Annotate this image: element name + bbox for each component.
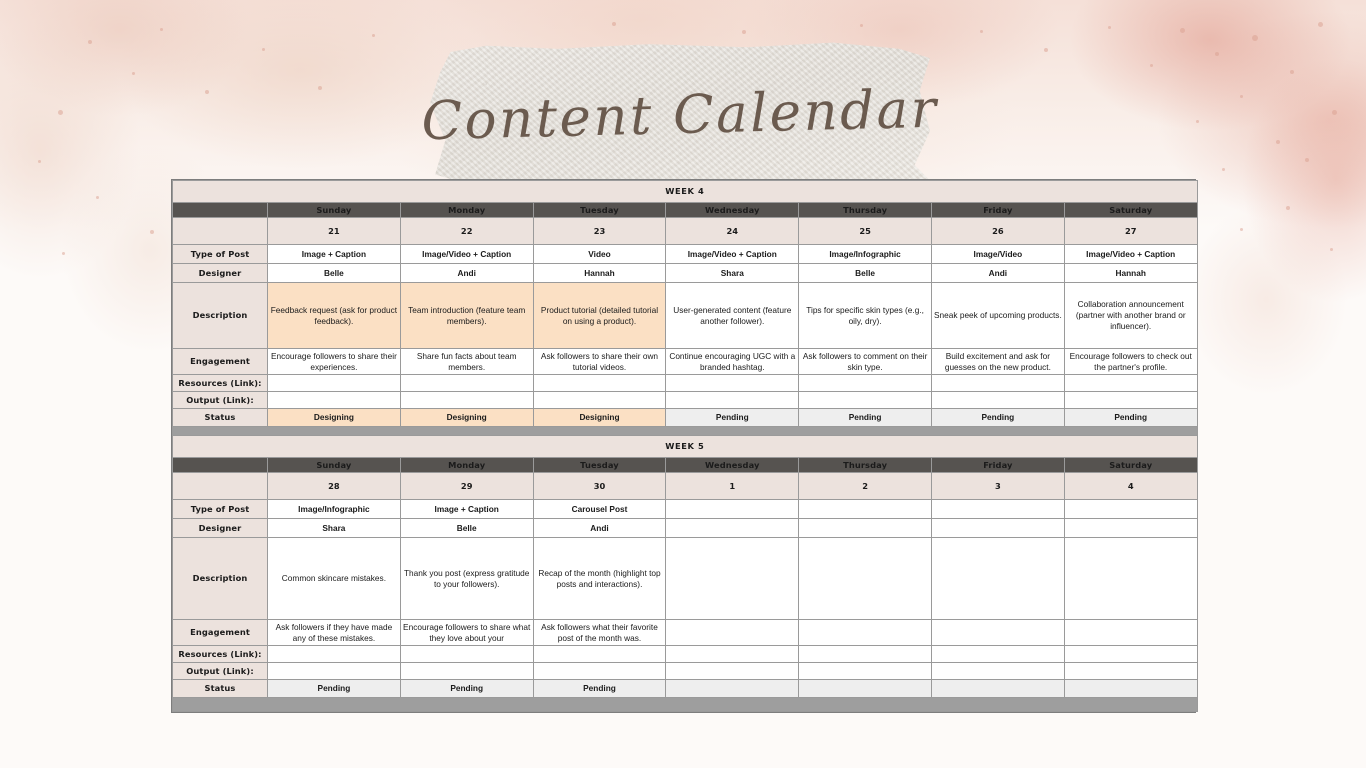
day-header-friday: Friday (931, 203, 1064, 218)
engagement-row: EngagementEncourage followers to share t… (173, 349, 1198, 375)
output-cell[interactable] (799, 392, 932, 409)
row-label-engagement: Engagement (173, 349, 268, 375)
watercolor-speck (860, 24, 863, 27)
type-of-post-cell[interactable] (1064, 500, 1197, 519)
type-of-post-cell[interactable]: Image + Caption (400, 500, 533, 519)
row-label-type-of-post: Type of Post (173, 245, 268, 264)
engagement-cell[interactable]: Encourage followers to check out the par… (1064, 349, 1197, 375)
date-cell: 24 (666, 218, 799, 245)
day-header-tuesday: Tuesday (533, 203, 666, 218)
designer-cell[interactable] (666, 519, 799, 538)
watercolor-speck (58, 110, 63, 115)
output-cell[interactable] (1064, 392, 1197, 409)
engagement-cell[interactable] (1064, 620, 1197, 646)
status-cell[interactable]: Pending (268, 680, 401, 698)
week-banner-row: WEEK 5 (173, 436, 1198, 458)
date-cell: 22 (400, 218, 533, 245)
designer-row: DesignerBelleAndiHannahSharaBelleAndiHan… (173, 264, 1198, 283)
description-cell[interactable]: Collaboration announcement (partner with… (1064, 283, 1197, 349)
output-row: Output (Link): (173, 392, 1198, 409)
status-cell[interactable]: Pending (1064, 409, 1197, 427)
status-cell[interactable]: Pending (931, 409, 1064, 427)
resources-cell[interactable] (931, 646, 1064, 663)
resources-cell[interactable] (533, 646, 666, 663)
watercolor-speck (1240, 95, 1243, 98)
output-cell[interactable] (268, 663, 401, 680)
output-cell[interactable] (268, 392, 401, 409)
day-header-sunday: Sunday (268, 458, 401, 473)
description-cell[interactable] (931, 538, 1064, 620)
engagement-cell[interactable]: Share fun facts about team members. (400, 349, 533, 375)
row-label-engagement: Engagement (173, 620, 268, 646)
watercolor-speck (1180, 28, 1185, 33)
watercolor-speck (742, 30, 746, 34)
resources-cell[interactable] (931, 375, 1064, 392)
designer-cell[interactable]: Andi (931, 264, 1064, 283)
type-of-post-row: Type of PostImage/InfographicImage + Cap… (173, 500, 1198, 519)
status-cell[interactable]: Pending (799, 409, 932, 427)
engagement-cell[interactable]: Encourage followers to share their exper… (268, 349, 401, 375)
watercolor-speck (150, 230, 154, 234)
engagement-cell[interactable] (666, 620, 799, 646)
row-label-description: Description (173, 538, 268, 620)
day-header-monday: Monday (400, 203, 533, 218)
resources-cell[interactable] (400, 375, 533, 392)
type-of-post-cell[interactable]: Carousel Post (533, 500, 666, 519)
date-cell: 21 (268, 218, 401, 245)
status-cell[interactable]: Designing (400, 409, 533, 427)
output-cell[interactable] (931, 392, 1064, 409)
output-cell[interactable] (931, 663, 1064, 680)
status-row: StatusPendingPendingPending (173, 680, 1198, 698)
output-cell[interactable] (533, 392, 666, 409)
engagement-cell[interactable]: Encourage followers to share what they l… (400, 620, 533, 646)
type-of-post-cell[interactable]: Image/Video + Caption (400, 245, 533, 264)
dow-corner-cell (173, 203, 268, 218)
date-cell: 4 (1064, 473, 1197, 500)
engagement-cell[interactable] (931, 620, 1064, 646)
watercolor-speck (1305, 158, 1309, 162)
designer-cell[interactable]: Belle (799, 264, 932, 283)
footer-strip-row (173, 698, 1198, 712)
watercolor-speck (1330, 248, 1333, 251)
status-row: StatusDesigningDesigningDesigningPending… (173, 409, 1198, 427)
type-of-post-cell[interactable]: Image + Caption (268, 245, 401, 264)
week-banner-row: WEEK 4 (173, 181, 1198, 203)
description-cell[interactable]: Product tutorial (detailed tutorial on u… (533, 283, 666, 349)
watercolor-speck (1286, 206, 1290, 210)
resources-cell[interactable] (1064, 646, 1197, 663)
resources-cell[interactable] (268, 375, 401, 392)
watercolor-speck (1196, 120, 1199, 123)
type-of-post-cell[interactable]: Image/Video + Caption (666, 245, 799, 264)
date-cell: 1 (666, 473, 799, 500)
designer-cell[interactable] (1064, 519, 1197, 538)
resources-cell[interactable] (799, 375, 932, 392)
type-of-post-cell[interactable]: Image/Infographic (799, 245, 932, 264)
row-label-resources: Resources (Link): (173, 375, 268, 392)
row-label-output: Output (Link): (173, 663, 268, 680)
status-cell[interactable]: Pending (400, 680, 533, 698)
watercolor-speck (1290, 70, 1294, 74)
watercolor-speck (96, 196, 99, 199)
day-header-monday: Monday (400, 458, 533, 473)
engagement-row: EngagementAsk followers if they have mad… (173, 620, 1198, 646)
status-cell[interactable] (666, 680, 799, 698)
week-spacer (173, 427, 1198, 436)
day-header-tuesday: Tuesday (533, 458, 666, 473)
status-cell[interactable]: Designing (268, 409, 401, 427)
day-header-thursday: Thursday (799, 458, 932, 473)
row-label-designer: Designer (173, 264, 268, 283)
watercolor-speck (1044, 48, 1048, 52)
footer-strip (173, 698, 1198, 712)
resources-cell[interactable] (400, 646, 533, 663)
watercolor-speck (318, 86, 322, 90)
type-of-post-cell[interactable]: Image/Video + Caption (1064, 245, 1197, 264)
date-cell: 3 (931, 473, 1064, 500)
description-cell[interactable]: Common skincare mistakes. (268, 538, 401, 620)
engagement-cell[interactable]: Ask followers to share their own tutoria… (533, 349, 666, 375)
status-cell[interactable]: Designing (533, 409, 666, 427)
engagement-cell[interactable]: Continue encouraging UGC with a branded … (666, 349, 799, 375)
watercolor-speck (132, 72, 135, 75)
description-cell[interactable]: Tips for specific skin types (e.g., oily… (799, 283, 932, 349)
engagement-cell[interactable]: Ask followers if they have made any of t… (268, 620, 401, 646)
designer-cell[interactable] (931, 519, 1064, 538)
designer-cell[interactable]: Andi (533, 519, 666, 538)
watercolor-speck (1276, 140, 1280, 144)
resources-cell[interactable] (666, 646, 799, 663)
resources-cell[interactable] (1064, 375, 1197, 392)
designer-cell[interactable]: Shara (268, 519, 401, 538)
watercolor-speck (62, 252, 65, 255)
day-header-sunday: Sunday (268, 203, 401, 218)
day-header-friday: Friday (931, 458, 1064, 473)
watercolor-speck (1222, 168, 1225, 171)
output-cell[interactable] (799, 663, 932, 680)
resources-row: Resources (Link): (173, 646, 1198, 663)
description-cell[interactable]: Thank you post (express gratitude to you… (400, 538, 533, 620)
watercolor-speck (372, 34, 375, 37)
date-cell: 27 (1064, 218, 1197, 245)
resources-cell[interactable] (799, 646, 932, 663)
date-corner-cell (173, 473, 268, 500)
status-cell[interactable]: Pending (533, 680, 666, 698)
designer-cell[interactable]: Shara (666, 264, 799, 283)
description-cell[interactable]: Team introduction (feature team members)… (400, 283, 533, 349)
description-cell[interactable]: Recap of the month (highlight top posts … (533, 538, 666, 620)
watercolor-speck (205, 90, 209, 94)
designer-cell[interactable]: Andi (400, 264, 533, 283)
row-label-description: Description (173, 283, 268, 349)
designer-cell[interactable]: Belle (400, 519, 533, 538)
description-cell[interactable] (666, 538, 799, 620)
description-cell[interactable]: Feedback request (ask for product feedba… (268, 283, 401, 349)
engagement-cell[interactable]: Ask followers what their favorite post o… (533, 620, 666, 646)
day-header-saturday: Saturday (1064, 458, 1197, 473)
date-corner-cell (173, 218, 268, 245)
designer-cell[interactable]: Hannah (533, 264, 666, 283)
day-header-wednesday: Wednesday (666, 458, 799, 473)
page-title: Content Calendar (423, 32, 937, 199)
output-cell[interactable] (533, 663, 666, 680)
type-of-post-cell[interactable] (799, 500, 932, 519)
watercolor-speck (1150, 64, 1153, 67)
row-label-resources: Resources (Link): (173, 646, 268, 663)
row-label-status: Status (173, 680, 268, 698)
description-row: DescriptionCommon skincare mistakes.Than… (173, 538, 1198, 620)
watercolor-speck (1318, 22, 1323, 27)
date-cell: 25 (799, 218, 932, 245)
watercolor-speck (38, 160, 41, 163)
status-cell[interactable]: Pending (666, 409, 799, 427)
watercolor-speck (980, 30, 983, 33)
designer-cell[interactable] (799, 519, 932, 538)
watercolor-speck (1108, 26, 1111, 29)
description-row: DescriptionFeedback request (ask for pro… (173, 283, 1198, 349)
watercolor-speck (1332, 110, 1337, 115)
output-cell[interactable] (666, 663, 799, 680)
week-spacer-row (173, 427, 1198, 436)
type-of-post-cell[interactable] (666, 500, 799, 519)
output-cell[interactable] (400, 663, 533, 680)
type-of-post-cell[interactable] (931, 500, 1064, 519)
description-cell[interactable]: Sneak peek of upcoming products. (931, 283, 1064, 349)
date-cell: 26 (931, 218, 1064, 245)
watercolor-speck (262, 48, 265, 51)
date-cell: 28 (268, 473, 401, 500)
day-header-saturday: Saturday (1064, 203, 1197, 218)
date-cell: 30 (533, 473, 666, 500)
dow-corner-cell (173, 458, 268, 473)
designer-cell[interactable]: Hannah (1064, 264, 1197, 283)
type-of-post-row: Type of PostImage + CaptionImage/Video +… (173, 245, 1198, 264)
date-cell: 2 (799, 473, 932, 500)
day-header-row: SundayMondayTuesdayWednesdayThursdayFrid… (173, 203, 1198, 218)
watercolor-speck (612, 22, 616, 26)
date-row: 2829301234 (173, 473, 1198, 500)
description-cell[interactable]: User-generated content (feature another … (666, 283, 799, 349)
description-cell[interactable] (1064, 538, 1197, 620)
week-banner-label: WEEK 4 (173, 181, 1198, 203)
resources-cell[interactable] (666, 375, 799, 392)
date-row: 21222324252627 (173, 218, 1198, 245)
type-of-post-cell[interactable]: Image/Infographic (268, 500, 401, 519)
resources-cell[interactable] (268, 646, 401, 663)
watercolor-speck (1252, 35, 1258, 41)
day-header-wednesday: Wednesday (666, 203, 799, 218)
status-cell[interactable] (931, 680, 1064, 698)
calendar-sheet: WEEK 4SundayMondayTuesdayWednesdayThursd… (171, 179, 1196, 713)
output-cell[interactable] (666, 392, 799, 409)
engagement-cell[interactable] (799, 620, 932, 646)
status-cell[interactable] (799, 680, 932, 698)
row-label-status: Status (173, 409, 268, 427)
output-row: Output (Link): (173, 663, 1198, 680)
watercolor-speck (1240, 228, 1243, 231)
designer-cell[interactable]: Belle (268, 264, 401, 283)
description-cell[interactable] (799, 538, 932, 620)
row-label-type-of-post: Type of Post (173, 500, 268, 519)
row-label-designer: Designer (173, 519, 268, 538)
day-header-thursday: Thursday (799, 203, 932, 218)
resources-cell[interactable] (533, 375, 666, 392)
watercolor-speck (88, 40, 92, 44)
status-cell[interactable] (1064, 680, 1197, 698)
type-of-post-cell[interactable]: Image/Video (931, 245, 1064, 264)
designer-row: DesignerSharaBelleAndi (173, 519, 1198, 538)
day-header-row: SundayMondayTuesdayWednesdayThursdayFrid… (173, 458, 1198, 473)
engagement-cell[interactable]: Build excitement and ask for guesses on … (931, 349, 1064, 375)
watercolor-speck (1215, 52, 1219, 56)
engagement-cell[interactable]: Ask followers to comment on their skin t… (799, 349, 932, 375)
row-label-output: Output (Link): (173, 392, 268, 409)
output-cell[interactable] (400, 392, 533, 409)
week-banner-label: WEEK 5 (173, 436, 1198, 458)
output-cell[interactable] (1064, 663, 1197, 680)
resources-row: Resources (Link): (173, 375, 1198, 392)
content-calendar-table: WEEK 4SundayMondayTuesdayWednesdayThursd… (172, 180, 1198, 712)
date-cell: 23 (533, 218, 666, 245)
date-cell: 29 (400, 473, 533, 500)
watercolor-speck (160, 28, 163, 31)
type-of-post-cell[interactable]: Video (533, 245, 666, 264)
